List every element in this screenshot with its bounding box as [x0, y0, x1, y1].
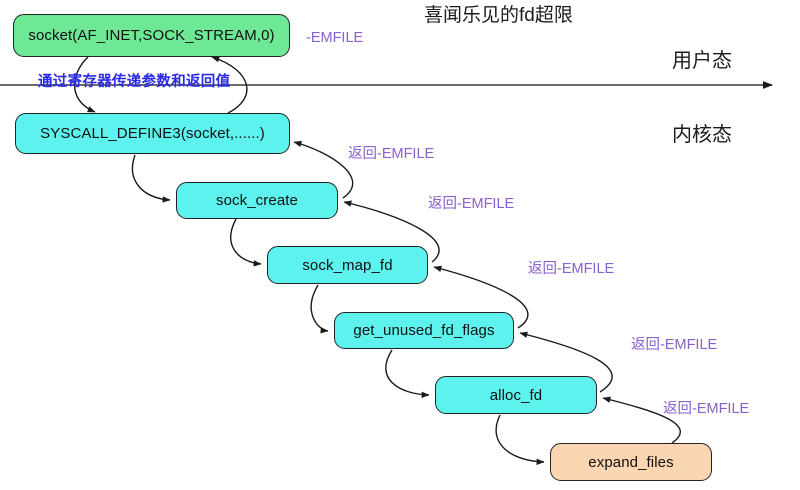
label-kernel-mode: 内核态 [672, 118, 732, 147]
edge-sockmapfd-to-getunused [311, 285, 328, 331]
node-get-unused-fd-flags[interactable]: get_unused_fd_flags [334, 312, 514, 349]
boundary-note: 通过寄存器传递参数和返回值 [38, 70, 230, 91]
node-socket[interactable]: socket(AF_INET,SOCK_STREAM,0) [13, 14, 290, 57]
node-sock-map-fd[interactable]: sock_map_fd [267, 246, 428, 284]
node-syscall-define3[interactable]: SYSCALL_DEFINE3(socket,......) [15, 113, 290, 154]
edge-allocfd-to-expandfiles [496, 415, 544, 462]
return-label-0: -EMFILE [306, 30, 363, 46]
label-user-mode: 用户态 [672, 44, 732, 73]
edge-sockcreate-to-sockmapfd [231, 219, 261, 264]
return-label-3: 返回-EMFILE [528, 257, 614, 278]
return-label-5: 返回-EMFILE [663, 397, 749, 418]
node-sock-create[interactable]: sock_create [176, 182, 338, 219]
edge-syscall-to-sockcreate [132, 155, 170, 200]
page-title: 喜闻乐见的fd超限 [424, 0, 573, 27]
edge-getunused-to-allocfd [386, 350, 429, 395]
node-expand-files[interactable]: expand_files [550, 443, 712, 481]
node-alloc-fd[interactable]: alloc_fd [435, 376, 597, 414]
diagram-canvas: 喜闻乐见的fd超限 用户态 内核态 通过寄存器传递参数和返回值 socket(A… [0, 0, 800, 490]
return-label-4: 返回-EMFILE [631, 333, 717, 354]
return-label-1: 返回-EMFILE [348, 142, 434, 163]
return-label-2: 返回-EMFILE [428, 192, 514, 213]
